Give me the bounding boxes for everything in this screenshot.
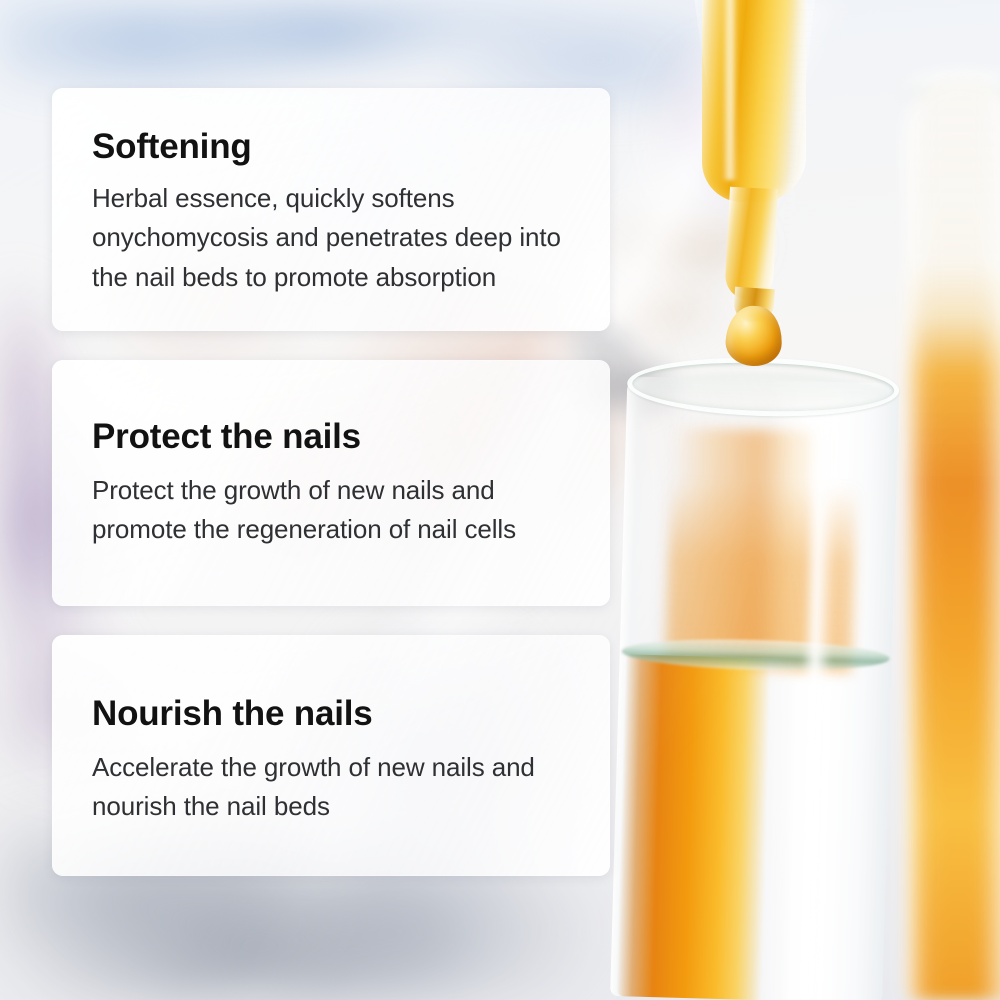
feature-card-title: Nourish the nails (92, 695, 570, 734)
test-tube-back (905, 78, 1000, 1000)
feature-card-content: Nourish the nails Accelerate the growth … (72, 669, 570, 827)
test-tube-amber-liquid (616, 654, 885, 1000)
feature-graphic: Softening Herbal essence, quickly soften… (0, 0, 1000, 1000)
feature-card-title: Softening (92, 128, 570, 167)
feature-card-list: Softening Herbal essence, quickly soften… (52, 88, 610, 876)
feature-card-description: Protect the growth of new nails and prom… (92, 471, 570, 550)
feature-card-description: Accelerate the growth of new nails and n… (92, 748, 570, 827)
feature-card-protect-the-nails: Protect the nails Protect the growth of … (52, 360, 610, 606)
feature-card-softening: Softening Herbal essence, quickly soften… (52, 88, 610, 331)
glass-dropper (678, 0, 828, 390)
test-tube-front (610, 354, 900, 1000)
feature-card-nourish-the-nails: Nourish the nails Accelerate the growth … (52, 635, 610, 876)
feature-card-content: Protect the nails Protect the growth of … (72, 394, 570, 550)
feature-card-content: Softening Herbal essence, quickly soften… (72, 122, 570, 297)
feature-card-description: Herbal essence, quickly softens onychomy… (92, 179, 570, 298)
feature-card-title: Protect the nails (92, 418, 570, 457)
